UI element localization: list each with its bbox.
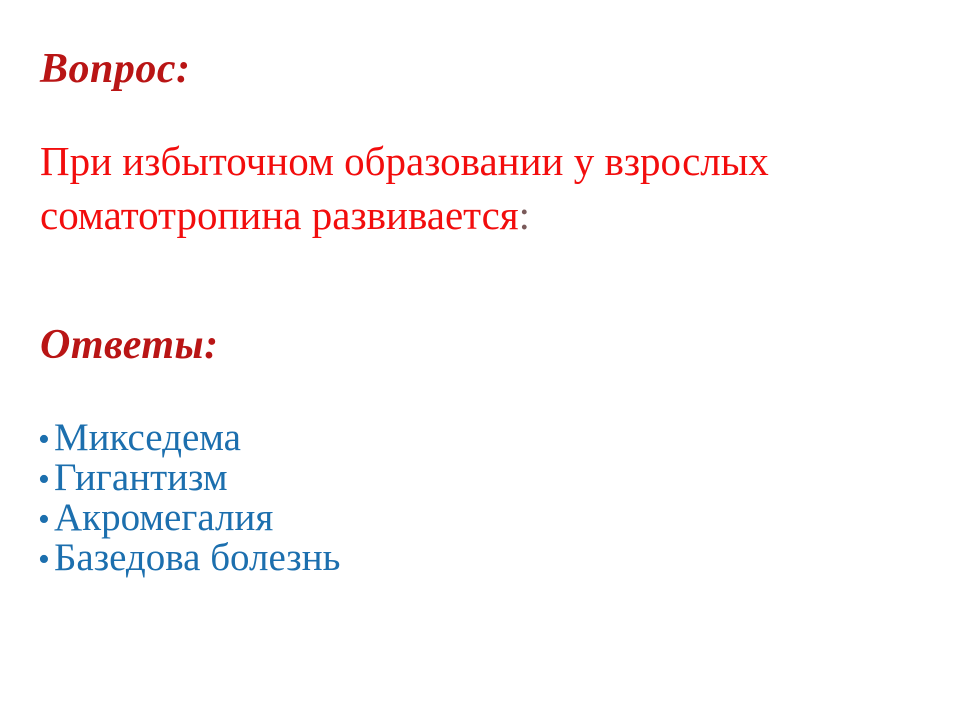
answer-option-4[interactable]: •Базедова болезнь bbox=[38, 538, 340, 578]
question-line-2-text: соматотропина развивается bbox=[40, 192, 519, 238]
bullet-icon: • bbox=[38, 420, 54, 460]
question-text: При избыточном образовании у взрослых со… bbox=[40, 134, 920, 242]
answers-list: •Микседема •Гигантизм •Акромегалия •Базе… bbox=[38, 418, 340, 578]
question-heading: Вопрос: bbox=[40, 48, 191, 90]
question-line-2: соматотропина развивается: bbox=[40, 188, 920, 242]
bullet-icon: • bbox=[38, 540, 54, 580]
answer-option-label: Гигантизм bbox=[54, 456, 228, 499]
answer-option-label: Микседема bbox=[54, 416, 241, 459]
answer-option-label: Базедова болезнь bbox=[54, 536, 340, 579]
answers-heading: Ответы: bbox=[40, 324, 219, 366]
question-line-1: При избыточном образовании у взрослых bbox=[40, 134, 920, 188]
answer-option-label: Акромегалия bbox=[54, 496, 273, 539]
answer-option-1[interactable]: •Микседема bbox=[38, 418, 340, 458]
bullet-icon: • bbox=[38, 500, 54, 540]
answer-option-2[interactable]: •Гигантизм bbox=[38, 458, 340, 498]
quiz-slide: Вопрос: При избыточном образовании у взр… bbox=[0, 0, 960, 720]
answer-option-3[interactable]: •Акромегалия bbox=[38, 498, 340, 538]
bullet-icon: • bbox=[38, 460, 54, 500]
question-colon: : bbox=[519, 192, 530, 238]
